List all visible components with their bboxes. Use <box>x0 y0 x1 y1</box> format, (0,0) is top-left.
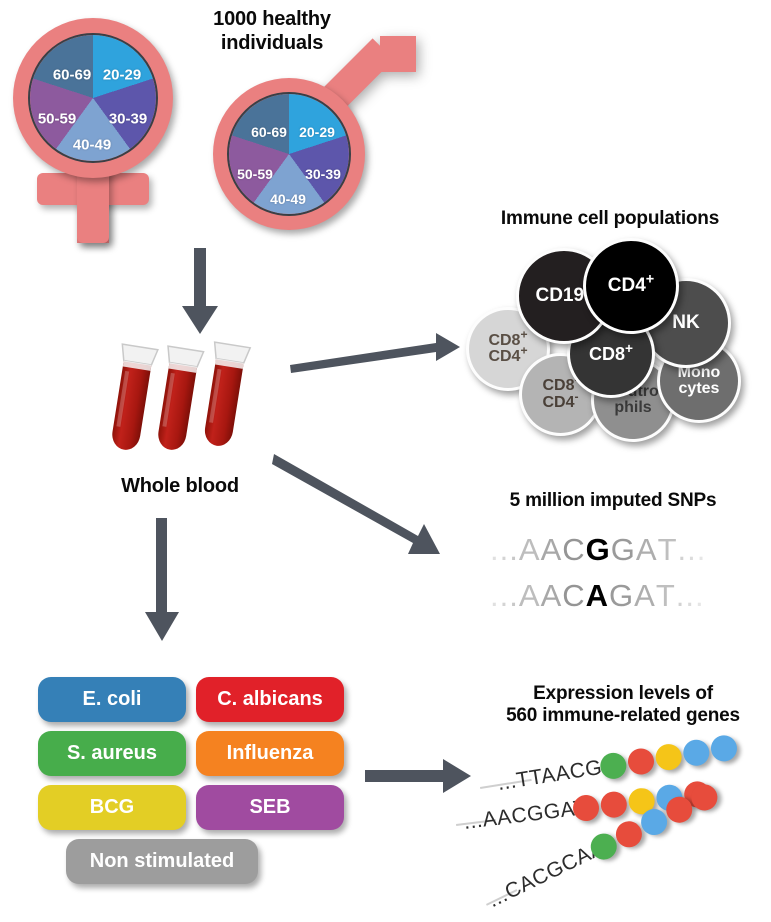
expression-title: Expression levels of 560 immune-related … <box>478 683 768 728</box>
immune-cell-cd8neg-cd4neg-label: CD8-CD4- <box>542 378 578 411</box>
snp-sequence-row-2: ...AACAGAT... <box>490 578 705 614</box>
female-pie-label-50-59: 50-59 <box>38 111 76 128</box>
rna-bead <box>599 790 628 819</box>
immune-cell-cd8pos: CD8+ <box>567 310 655 398</box>
stimulation-box-s-aureus[interactable]: S. aureus <box>38 731 186 776</box>
arrow-blood-to-immune-cells <box>288 325 463 375</box>
male-age-pie-chart: 20-29 30-39 40-49 50-59 60-69 <box>227 92 351 216</box>
rna-bead <box>654 742 684 772</box>
whole-blood-label: Whole blood <box>80 475 280 499</box>
expression-title-line2: 560 immune-related genes <box>478 705 768 727</box>
stimulation-box-e-coli[interactable]: E. coli <box>38 677 186 722</box>
arrow-blood-to-stimulations <box>140 518 184 643</box>
arrow-individuals-to-blood <box>178 248 222 336</box>
male-pie-label-20-29: 20-29 <box>299 124 335 140</box>
stimulation-box-non-stimulated[interactable]: Non stimulated <box>66 839 258 884</box>
male-pie-label-60-69: 60-69 <box>251 124 287 140</box>
immune-cell-cd19pos: CD19+ <box>516 248 612 344</box>
female-age-pie-chart: 20-29 30-39 40-49 50-59 60-69 <box>28 33 158 163</box>
rna-strand-2-sequence: ...AACGGAT <box>462 796 588 835</box>
snp-sequence-row-1: ...AACGGAT... <box>490 532 706 568</box>
snps-title: 5 million imputed SNPs <box>468 490 758 512</box>
immune-cell-monocytes-label: Monocytes <box>678 365 721 398</box>
immune-cell-cd8pos-label: CD8+ <box>589 345 633 363</box>
immune-cell-cd8pos-cd4pos: CD8+CD4+ <box>466 307 550 391</box>
arrow-stimulations-to-expression <box>365 755 475 799</box>
rna-strands-illustration: ...TTAACGG ...AACGGAT ...CACGCAA <box>460 735 771 915</box>
stimulation-box-influenza[interactable]: Influenza <box>196 731 344 776</box>
stimulation-panel: E. coli C. albicans S. aureus Influenza … <box>38 677 348 897</box>
expression-title-line1: Expression levels of <box>478 683 768 705</box>
rna-bead <box>681 738 711 768</box>
stimulation-box-bcg[interactable]: BCG <box>38 785 186 830</box>
male-pie-label-30-39: 30-39 <box>305 166 341 182</box>
female-pie-label-60-69: 60-69 <box>53 67 91 84</box>
immune-cell-cd4pos-label: CD4+ <box>608 276 654 295</box>
rna-bead <box>626 747 656 777</box>
female-pie-label-40-49: 40-49 <box>73 137 111 154</box>
immune-cell-populations-title: Immune cell populations <box>455 208 765 230</box>
snp-sequences: ...AACGGAT... ...AACAGAT... <box>490 532 740 622</box>
immune-cell-neutrophils: Neutrophils <box>591 358 675 442</box>
immune-cell-cd4pos: CD4+ <box>583 238 679 334</box>
immune-cell-cd8neg-cd4neg: CD8-CD4- <box>519 353 602 436</box>
immune-cell-neutrophils-label: Neutrophils <box>607 384 659 417</box>
female-sex-symbol: 20-29 30-39 40-49 50-59 60-69 <box>8 18 198 243</box>
diagram-canvas: 1000 healthy individuals 20-29 30-39 40-… <box>0 0 771 922</box>
stimulation-box-seb[interactable]: SEB <box>196 785 344 830</box>
immune-cell-nk-label: NK <box>672 313 699 332</box>
male-pie-label-40-49: 40-49 <box>270 191 306 207</box>
male-pie-label-50-59: 50-59 <box>237 166 273 182</box>
rna-bead <box>709 733 739 763</box>
female-pie-label-30-39: 30-39 <box>109 111 147 128</box>
immune-cell-cd8pos-cd4pos-label: CD8+CD4+ <box>488 333 527 366</box>
blood-tubes-illustration <box>108 338 258 468</box>
immune-cell-cd19pos-label: CD19+ <box>535 286 592 305</box>
immune-cell-monocytes: Monocytes <box>657 339 741 423</box>
arrow-blood-to-snps <box>272 450 457 560</box>
stimulation-box-c-albicans[interactable]: C. albicans <box>196 677 344 722</box>
immune-cell-nk: NK <box>641 278 731 368</box>
female-pie-label-20-29: 20-29 <box>103 67 141 84</box>
male-sex-symbol: 20-29 30-39 40-49 50-59 60-69 <box>205 28 420 238</box>
